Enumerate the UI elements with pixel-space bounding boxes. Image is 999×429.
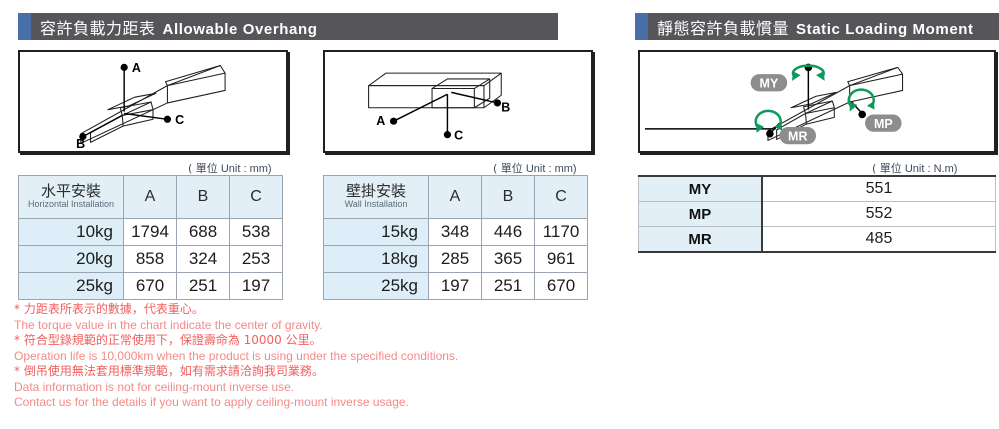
table-row-label: 25kg bbox=[19, 273, 124, 300]
axis-label-c: C bbox=[454, 128, 463, 142]
table-row-label: 15kg bbox=[324, 219, 429, 246]
unit-caption-en: Unit : N.m) bbox=[905, 163, 958, 175]
unit-caption-horizontal: ( 單位 Unit : mm) bbox=[188, 160, 272, 176]
table-cell-a: 197 bbox=[429, 273, 482, 300]
table-row-label: 10kg bbox=[19, 219, 124, 246]
table-header-name-en: Horizontal Installation bbox=[19, 200, 123, 209]
horizontal-installation-table: 水平安裝 Horizontal Installation A B C 10kg … bbox=[18, 175, 283, 300]
section-header-static-loading-moment: 靜態容許負載慣量 Static Loading Moment bbox=[635, 13, 999, 40]
table-header-name-cell: 壁掛安裝 Wall Installation bbox=[324, 176, 429, 219]
table-cell-c: 538 bbox=[230, 219, 283, 246]
footnotes-block: * 力距表所表示的數據，代表重心。 The torque value in th… bbox=[14, 302, 534, 411]
table-row: 15kg 348 446 1170 bbox=[324, 219, 588, 246]
table-row-label: 18kg bbox=[324, 246, 429, 273]
footnote-line: * 符合型錄規範的正常使用下，保證壽命為 10000 公里。 bbox=[14, 333, 534, 349]
section-title-english: Static Loading Moment bbox=[796, 21, 974, 38]
table-header-name-en: Wall Installation bbox=[324, 200, 428, 209]
table-header-col-b: B bbox=[482, 176, 535, 219]
table-row: 10kg 1794 688 538 bbox=[19, 219, 283, 246]
section-title-english: Allowable Overhang bbox=[163, 21, 318, 38]
horizontal-rail-illustration: A C B bbox=[20, 52, 286, 151]
moment-label-my-text: MY bbox=[760, 77, 779, 91]
moment-row-label: MP bbox=[639, 202, 763, 227]
moment-row-value: 485 bbox=[762, 227, 996, 253]
axis-label-b: B bbox=[501, 101, 510, 115]
axis-label-b: B bbox=[76, 137, 85, 151]
table-cell-a: 670 bbox=[124, 273, 177, 300]
table-row: 18kg 285 365 961 bbox=[324, 246, 588, 273]
table-cell-c: 961 bbox=[535, 246, 588, 273]
section-header-titles: 容許負載力距表 Allowable Overhang bbox=[31, 15, 318, 39]
footnote-line: Operation life is 10,000km when the prod… bbox=[14, 349, 534, 365]
table-cell-b: 446 bbox=[482, 219, 535, 246]
footnote-line: Data information is not for ceiling-moun… bbox=[14, 380, 534, 396]
table-row: MY 551 bbox=[639, 176, 996, 202]
table-row: 25kg 670 251 197 bbox=[19, 273, 283, 300]
static-loading-moment-diagram: MY MP MR bbox=[638, 50, 996, 153]
moment-label-my: MY bbox=[751, 74, 788, 91]
wall-rail-illustration: A B C bbox=[325, 52, 591, 151]
table-header-row: 壁掛安裝 Wall Installation A B C bbox=[324, 176, 588, 219]
table-cell-c: 1170 bbox=[535, 219, 588, 246]
wall-installation-table: 壁掛安裝 Wall Installation A B C 15kg 348 44… bbox=[323, 175, 588, 300]
table-header-name-cn: 水平安裝 bbox=[19, 184, 123, 200]
moment-row-value: 551 bbox=[762, 176, 996, 202]
accent-bar-icon bbox=[635, 13, 648, 40]
axis-label-c: C bbox=[175, 113, 184, 127]
section-header-allowable-overhang: 容許負載力距表 Allowable Overhang bbox=[18, 13, 558, 40]
accent-bar-icon bbox=[18, 13, 31, 40]
wall-installation-diagram: A B C bbox=[323, 50, 593, 153]
table-header-col-a: A bbox=[429, 176, 482, 219]
table-header-name-cell: 水平安裝 Horizontal Installation bbox=[19, 176, 124, 219]
footnote-line: Contact us for the details if you want t… bbox=[14, 395, 534, 411]
table-row-label: 25kg bbox=[324, 273, 429, 300]
table-row: 20kg 858 324 253 bbox=[19, 246, 283, 273]
moment-label-mp: MP bbox=[865, 114, 902, 131]
table-header-col-c: C bbox=[230, 176, 283, 219]
unit-caption-moment: ( 單位 Unit : N.m) bbox=[872, 160, 957, 176]
moment-label-mr-text: MR bbox=[788, 129, 807, 143]
section-header-titles: 靜態容許負載慣量 Static Loading Moment bbox=[648, 15, 974, 39]
horizontal-installation-diagram: A C B bbox=[18, 50, 288, 153]
static-loading-moment-table: MY 551 MP 552 MR 485 bbox=[638, 175, 996, 253]
table-row: MP 552 bbox=[639, 202, 996, 227]
table-cell-c: 670 bbox=[535, 273, 588, 300]
table-cell-b: 324 bbox=[177, 246, 230, 273]
table-header-col-a: A bbox=[124, 176, 177, 219]
moment-row-label: MY bbox=[639, 176, 763, 202]
axis-label-a: A bbox=[132, 61, 141, 75]
table-cell-a: 285 bbox=[429, 246, 482, 273]
axis-label-a: A bbox=[376, 114, 385, 128]
table-cell-c: 197 bbox=[230, 273, 283, 300]
footnote-line: * 力距表所表示的數據，代表重心。 bbox=[14, 302, 534, 318]
unit-caption-wall: ( 單位 Unit : mm) bbox=[493, 160, 577, 176]
table-header-col-b: B bbox=[177, 176, 230, 219]
section-title-chinese: 容許負載力距表 bbox=[40, 15, 156, 39]
unit-caption-en: Unit : mm) bbox=[221, 163, 272, 175]
table-cell-b: 251 bbox=[177, 273, 230, 300]
table-cell-a: 858 bbox=[124, 246, 177, 273]
table-header-row: 水平安裝 Horizontal Installation A B C bbox=[19, 176, 283, 219]
section-title-chinese: 靜態容許負載慣量 bbox=[657, 15, 789, 39]
moment-row-label: MR bbox=[639, 227, 763, 253]
footnote-line: * 倒吊使用無法套用標準規範，如有需求請洽詢我司業務。 bbox=[14, 364, 534, 380]
unit-caption-cn: ( 單位 bbox=[493, 162, 523, 175]
moment-label-mr: MR bbox=[780, 127, 817, 144]
unit-caption-en: Unit : mm) bbox=[526, 163, 577, 175]
table-header-col-c: C bbox=[535, 176, 588, 219]
footnote-line: The torque value in the chart indicate t… bbox=[14, 318, 534, 334]
table-header-name-cn: 壁掛安裝 bbox=[324, 184, 428, 200]
table-row: 25kg 197 251 670 bbox=[324, 273, 588, 300]
moment-row-value: 552 bbox=[762, 202, 996, 227]
table-cell-b: 688 bbox=[177, 219, 230, 246]
table-cell-a: 348 bbox=[429, 219, 482, 246]
table-cell-a: 1794 bbox=[124, 219, 177, 246]
unit-caption-cn: ( 單位 bbox=[188, 162, 218, 175]
table-row-label: 20kg bbox=[19, 246, 124, 273]
moment-label-mp-text: MP bbox=[874, 117, 893, 131]
table-cell-b: 365 bbox=[482, 246, 535, 273]
unit-caption-cn: ( 單位 bbox=[872, 162, 902, 175]
table-cell-c: 253 bbox=[230, 246, 283, 273]
table-cell-b: 251 bbox=[482, 273, 535, 300]
table-row: MR 485 bbox=[639, 227, 996, 253]
moment-rail-illustration: MY MP MR bbox=[640, 52, 994, 151]
